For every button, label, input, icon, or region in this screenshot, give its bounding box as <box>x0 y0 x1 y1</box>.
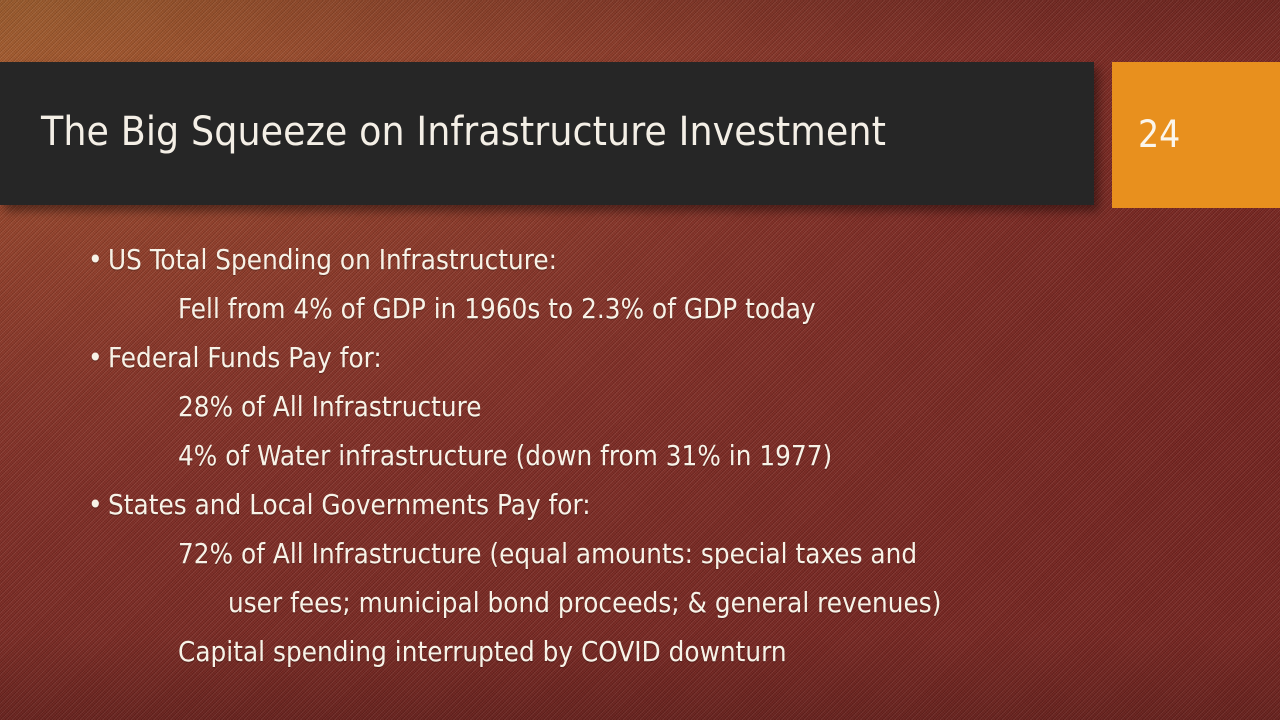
line-text: 28% of All Infrastructure <box>178 394 482 422</box>
line-text: States and Local Governments Pay for: <box>108 492 591 520</box>
line-text: Capital spending interrupted by COVID do… <box>178 639 787 667</box>
slide-title: The Big Squeeze on Infrastructure Invest… <box>41 109 886 154</box>
slide-number-badge: 24 <box>1112 62 1280 208</box>
sub-line: user fees; municipal bond proceeds; & ge… <box>0 579 1280 628</box>
line-text: Federal Funds Pay for: <box>108 345 382 373</box>
sub-line: 72% of All Infrastructure (equal amounts… <box>0 530 1280 579</box>
bullet-item: •States and Local Governments Pay for: <box>0 481 1280 530</box>
bullet-item: •US Total Spending on Infrastructure: <box>0 236 1280 285</box>
line-text: 4% of Water infrastructure (down from 31… <box>178 443 832 471</box>
bullet-item: •Federal Funds Pay for: <box>0 334 1280 383</box>
sub-line: Fell from 4% of GDP in 1960s to 2.3% of … <box>0 285 1280 334</box>
sub-line: 28% of All Infrastructure <box>0 383 1280 432</box>
slide-body: •US Total Spending on Infrastructure:Fel… <box>0 236 1280 677</box>
bullet-icon: • <box>88 492 108 520</box>
line-text: user fees; municipal bond proceeds; & ge… <box>228 590 941 618</box>
line-text: 72% of All Infrastructure (equal amounts… <box>178 541 917 569</box>
presentation-slide: The Big Squeeze on Infrastructure Invest… <box>0 0 1280 720</box>
bullet-icon: • <box>88 345 108 373</box>
line-text: US Total Spending on Infrastructure: <box>108 247 557 275</box>
title-bar: The Big Squeeze on Infrastructure Invest… <box>0 62 1094 205</box>
bullet-icon: • <box>88 247 108 275</box>
sub-line: Capital spending interrupted by COVID do… <box>0 628 1280 677</box>
sub-line: 4% of Water infrastructure (down from 31… <box>0 432 1280 481</box>
line-text: Fell from 4% of GDP in 1960s to 2.3% of … <box>178 296 816 324</box>
slide-number: 24 <box>1138 116 1180 153</box>
